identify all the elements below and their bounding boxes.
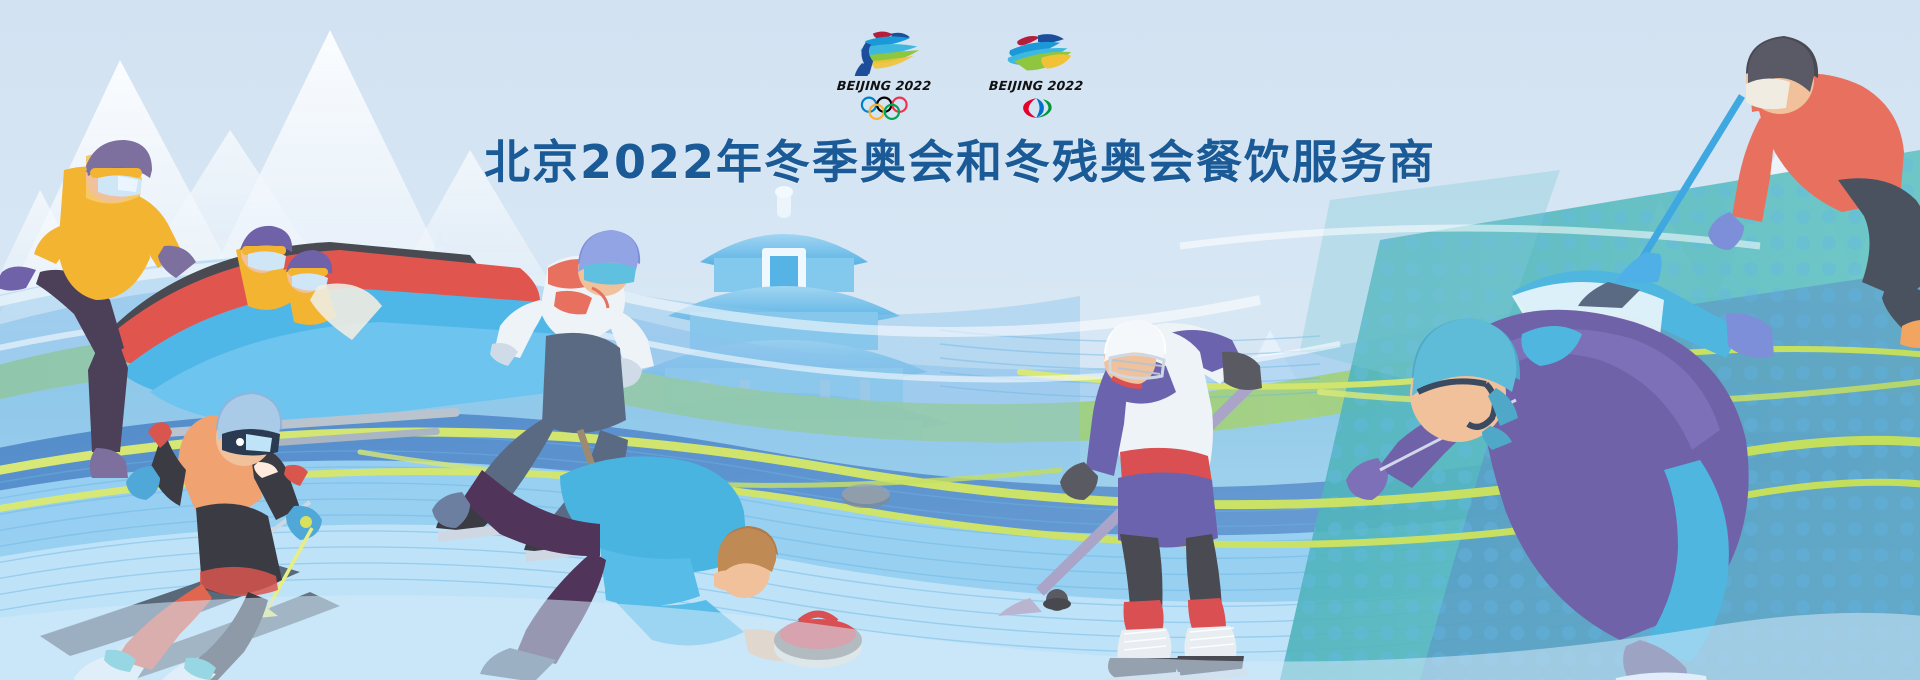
olympics-banner: BEIJING 2022 — [0, 0, 1920, 680]
winter-sports-illustration — [0, 0, 1920, 680]
curling-stone-grey — [842, 484, 890, 508]
